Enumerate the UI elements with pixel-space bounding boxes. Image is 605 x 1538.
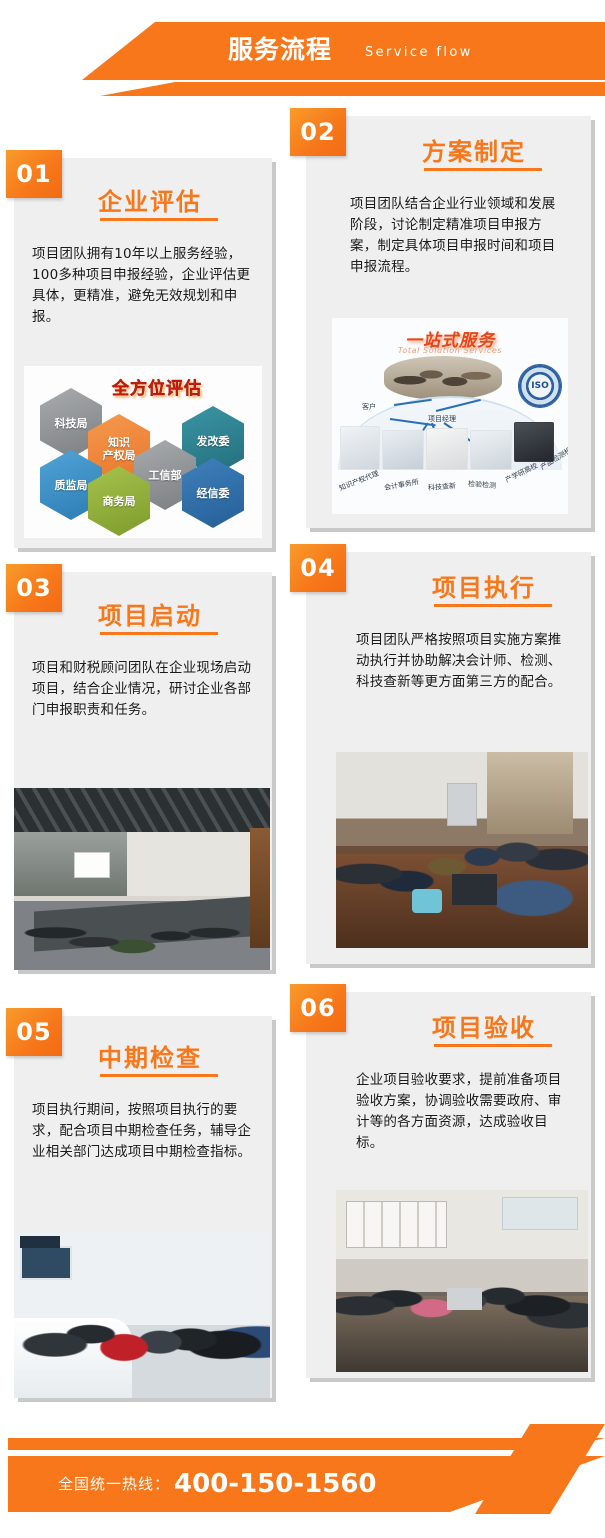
title-underline [434, 1044, 552, 1047]
hexagon-infographic: 全方位评估 科技局 知识 产权局 发改委 质监局 工信部 商务局 经信委 [24, 366, 262, 538]
service-label-novelty: 科技查新 [428, 481, 457, 493]
service-label-accounting: 会计事务所 [383, 477, 419, 493]
header-band-secondary [0, 82, 605, 96]
footer-band-thin [8, 1438, 605, 1450]
card-description: 项目和财税顾问团队在企业现场启动项目，结合企业情况，研讨企业各部门申报职责和任务… [32, 658, 254, 721]
card-title: 企业评估 [98, 182, 202, 217]
hotline-label: 全国统一热线： [58, 1475, 170, 1493]
title-underline [100, 1074, 218, 1077]
flow-label-customer: 客户 [362, 402, 376, 412]
process-card-03: 03 项目启动 项目和财税顾问团队在企业现场启动项目，结合企业情况，研讨企业各部… [14, 572, 272, 970]
hotline-number: 400-150-1560 [174, 1469, 377, 1499]
card-title: 项目启动 [98, 596, 202, 631]
page-title: 服务流程 [228, 34, 332, 66]
card-photo-showroom-visit [14, 1232, 270, 1398]
title-underline [100, 218, 218, 221]
card-number-badge: 04 [290, 544, 346, 592]
page-header: 服务流程 Service flow [0, 0, 605, 112]
service-label-ip: 知识产权代理 [338, 468, 381, 493]
title-underline [424, 168, 542, 171]
card-description: 项目团队严格按照项目实施方案推动执行并协助解决会计师、检测、科技查新等更方面第三… [356, 630, 566, 693]
process-card-06: 06 项目验收 企业项目验收要求，提前准备项目验收方案，协调验收需要政府、审计等… [306, 992, 591, 1378]
card-number-badge: 01 [6, 150, 62, 198]
one-stop-service-infographic: 一站式服务 Total Solution Services 客户 项目经理 IS… [332, 318, 568, 514]
process-card-01: 01 企业评估 项目团队拥有10年以上服务经验，100多种项目申报经验，企业评估… [14, 158, 272, 548]
card-title: 项目验收 [432, 1008, 536, 1043]
card-photo-execution-meeting [336, 752, 588, 948]
card-description: 项目团队拥有10年以上服务经验，100多种项目申报经验，企业评估更具体，更精准，… [32, 244, 254, 328]
process-card-05: 05 中期检查 项目执行期间，按照项目执行的要求，配合项目中期检查任务，辅导企业… [14, 1016, 272, 1398]
card-photo-acceptance-meeting [336, 1190, 588, 1372]
card-description: 项目执行期间，按照项目执行的要求，配合项目中期检查任务，辅导企业相关部门达成项目… [32, 1100, 254, 1163]
service-node-ip [340, 426, 380, 470]
card-title: 中期检查 [98, 1038, 202, 1073]
card-title: 项目执行 [432, 568, 536, 603]
card-description: 企业项目验收要求，提前准备项目验收方案，协调验收需要政府、审计等的各方面资源，达… [356, 1070, 566, 1154]
card-photo-kickoff-meeting [14, 788, 270, 970]
infographic-subheading: Total Solution Services [332, 346, 568, 355]
process-card-02: 02 方案制定 项目团队结合企业行业领域和发展阶段，讨论制定精准项目申报方案，制… [306, 116, 591, 528]
card-number-badge: 05 [6, 1008, 62, 1056]
card-number-badge: 02 [290, 108, 346, 156]
hotline-block: 全国统一热线：400-150-1560 [58, 1470, 377, 1498]
service-node-testing [470, 430, 512, 470]
service-flow-poster: 服务流程 Service flow 01 企业评估 项目团队拥有10年以上服务经… [0, 0, 605, 1538]
title-underline [434, 604, 552, 607]
service-node-novelty [426, 428, 468, 470]
card-number-badge: 06 [290, 984, 346, 1032]
meeting-photo-thumb [384, 356, 502, 400]
card-title: 方案制定 [422, 132, 526, 167]
service-node-accounting [382, 430, 424, 470]
page-footer: 全国统一热线：400-150-1560 [0, 1400, 605, 1538]
card-description: 项目团队结合企业行业领域和发展阶段，讨论制定精准项目申报方案，制定具体项目申报时… [350, 194, 562, 278]
card-number-badge: 03 [6, 564, 62, 612]
service-label-testing: 检验检测 [468, 479, 497, 491]
page-subtitle: Service flow [365, 44, 473, 62]
iso-seal-icon: ISO [518, 364, 562, 408]
title-underline [100, 632, 218, 635]
infographic-heading: 全方位评估 [112, 374, 202, 399]
process-card-04: 04 项目执行 项目团队严格按照项目实施方案推动执行并协助解决会计师、检测、科技… [306, 552, 591, 964]
service-node-university [514, 422, 554, 462]
